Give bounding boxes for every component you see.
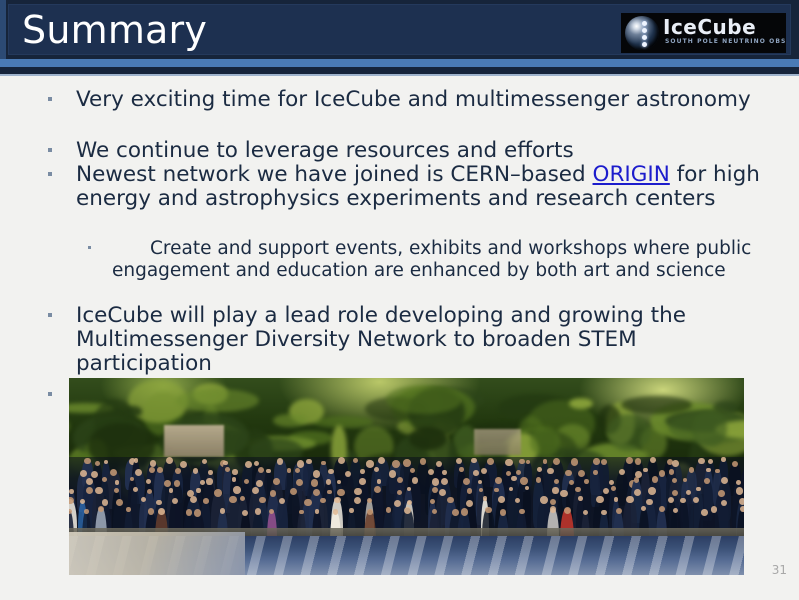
header-rule-dark bbox=[0, 67, 799, 74]
icecube-orb-icon bbox=[625, 16, 659, 50]
photo-person-head bbox=[157, 467, 163, 473]
photo-person-head bbox=[736, 480, 741, 485]
photo-person-head bbox=[156, 500, 162, 506]
icecube-logo: IceCube SOUTH POLE NEUTRINO OBSERVATORY bbox=[621, 13, 786, 53]
photo-building-secondary bbox=[474, 429, 521, 455]
photo-person-head bbox=[672, 490, 678, 496]
photo-person-head bbox=[552, 487, 558, 493]
photo-person-head bbox=[693, 497, 699, 503]
photo-person-head bbox=[279, 498, 285, 504]
photo-person-head bbox=[296, 479, 303, 486]
photo-person-head bbox=[252, 487, 259, 494]
photo-person-head bbox=[740, 506, 744, 512]
photo-person-head bbox=[232, 477, 236, 481]
logo-wordmark: IceCube bbox=[663, 16, 756, 38]
photo-person-head bbox=[410, 468, 415, 473]
photo-person-head bbox=[516, 470, 521, 475]
photo-person-head bbox=[520, 477, 527, 484]
slide-header: Summary IceCube SOUTH POLE NEUTRINO OBSE… bbox=[0, 0, 799, 59]
photo-person-head bbox=[245, 461, 252, 468]
photo-person-head bbox=[186, 509, 192, 515]
photo-person-head bbox=[560, 490, 567, 497]
photo-person-head bbox=[313, 470, 321, 478]
photo-person-head bbox=[208, 470, 213, 475]
photo-person-head bbox=[626, 496, 634, 504]
photo-person-head bbox=[259, 497, 265, 503]
photo-person-head bbox=[367, 509, 373, 515]
photo-person-head bbox=[616, 508, 622, 514]
photo-person-head bbox=[739, 498, 744, 505]
photo-person-head bbox=[360, 469, 365, 474]
photo-person-head bbox=[240, 496, 245, 501]
photo-person-head bbox=[174, 480, 181, 487]
sub-bullet-marker bbox=[88, 246, 91, 249]
photo-foliage-blob bbox=[69, 417, 70, 435]
bullet-item: We continue to leverage resources and ef… bbox=[0, 139, 799, 163]
photo-person-head bbox=[394, 500, 401, 507]
photo-foliage-blob bbox=[692, 410, 727, 447]
photo-person-head bbox=[172, 498, 178, 504]
photo-building bbox=[164, 425, 225, 457]
photo-person-head bbox=[565, 470, 572, 477]
photo-person-head bbox=[571, 458, 579, 466]
photo-person-head bbox=[603, 488, 610, 495]
photo-person-head bbox=[442, 470, 447, 475]
photo-person-head bbox=[721, 500, 727, 506]
photo-person-head bbox=[202, 459, 207, 464]
photo-person-head bbox=[196, 488, 200, 492]
photo-person-head bbox=[397, 477, 403, 483]
photo-person-head bbox=[650, 457, 656, 463]
photo-person-head bbox=[584, 479, 589, 484]
photo-foliage-blob bbox=[621, 396, 692, 415]
photo-person-head bbox=[193, 468, 199, 474]
photo-person-head bbox=[359, 478, 365, 484]
photo-person-head bbox=[149, 467, 155, 473]
photo-foliage-blob bbox=[569, 398, 593, 409]
photo-person-head bbox=[115, 480, 119, 484]
header-rule-hairline bbox=[0, 74, 799, 76]
photo-person-head bbox=[564, 507, 571, 514]
photo-person-head bbox=[95, 487, 102, 494]
bullet-item: Newest network we have joined is CERN–ba… bbox=[0, 163, 799, 211]
photo-foliage-blob bbox=[386, 385, 462, 414]
photo-person-head bbox=[583, 510, 588, 515]
photo-person-head bbox=[334, 497, 340, 503]
photo-person-head bbox=[659, 470, 666, 477]
photo-person-head bbox=[721, 457, 725, 461]
photo-person-head bbox=[141, 497, 146, 502]
photo-person-head bbox=[646, 499, 652, 505]
photo-person-head bbox=[537, 467, 542, 472]
photo-person-head bbox=[403, 459, 410, 466]
photo-person-head bbox=[304, 499, 311, 506]
sub-bullet-item: Create and support events, exhibits and … bbox=[0, 238, 799, 281]
photo-person-head bbox=[441, 478, 448, 485]
photo-person-head bbox=[397, 490, 402, 495]
photo-person-head bbox=[648, 487, 656, 495]
photo-person-head bbox=[596, 496, 604, 504]
photo-person-head bbox=[175, 468, 181, 474]
photo-person-head bbox=[277, 458, 284, 465]
photo-person-head bbox=[266, 469, 270, 473]
photo-person-head bbox=[461, 508, 468, 515]
photo-person-head bbox=[269, 509, 274, 514]
photo-person-head bbox=[479, 488, 483, 492]
photo-person-head bbox=[412, 477, 418, 483]
photo-person-head bbox=[554, 479, 559, 484]
photo-person-head bbox=[135, 469, 142, 476]
photo-person-head bbox=[601, 459, 607, 465]
photo-person-head bbox=[321, 461, 326, 466]
photo-person-head bbox=[736, 487, 743, 494]
photo-person-head bbox=[84, 509, 89, 514]
photo-person-head bbox=[467, 488, 472, 493]
photo-person-head bbox=[386, 507, 392, 513]
photo-person-head bbox=[214, 489, 222, 497]
photo-person-head bbox=[609, 480, 614, 485]
logo-tagline: SOUTH POLE NEUTRINO OBSERVATORY bbox=[665, 38, 786, 46]
photo-person-head bbox=[672, 460, 679, 467]
photo-person-head bbox=[593, 470, 598, 475]
photo-person-head bbox=[506, 471, 511, 476]
bullet-marker bbox=[48, 392, 52, 396]
photo-person-head bbox=[287, 468, 291, 472]
photo-person-head bbox=[270, 490, 276, 496]
photo-person-head bbox=[80, 499, 85, 504]
photo-person-head bbox=[483, 496, 488, 501]
photo-person-head bbox=[377, 479, 381, 483]
photo-person-head bbox=[203, 498, 209, 504]
origin-link[interactable]: ORIGIN bbox=[593, 162, 670, 187]
photo-person-head bbox=[367, 498, 372, 503]
photo-person-head bbox=[349, 508, 353, 512]
photo-person-head bbox=[311, 479, 318, 486]
photo-person-head bbox=[320, 498, 325, 503]
photo-person-head bbox=[233, 486, 241, 494]
photo-person-head bbox=[715, 469, 720, 474]
photo-person-head bbox=[463, 478, 470, 485]
bullet-marker bbox=[48, 148, 52, 152]
photo-person-head bbox=[327, 490, 331, 494]
photo-person-head bbox=[110, 469, 117, 476]
photo-person-head bbox=[683, 478, 687, 482]
photo-person-head bbox=[84, 458, 90, 464]
photo-person-head bbox=[652, 476, 658, 482]
photo-person-head bbox=[150, 460, 156, 466]
photo-person-head bbox=[69, 489, 74, 494]
photo-person-head bbox=[244, 479, 249, 484]
photo-person-head bbox=[225, 467, 230, 472]
photo-person-head bbox=[452, 509, 459, 516]
sub-bullet-text: Create and support events, exhibits and … bbox=[112, 238, 751, 281]
photo-foliage-blob bbox=[530, 426, 560, 456]
photo-person-head bbox=[500, 509, 507, 516]
photo-person-head bbox=[315, 509, 320, 514]
header-rule-light bbox=[0, 59, 799, 67]
photo-person-head bbox=[634, 489, 641, 496]
bullet-text: Very exciting time for IceCube and multi… bbox=[76, 87, 751, 112]
photo-person-head bbox=[392, 460, 400, 468]
bullet-item: IceCube will play a lead role developing… bbox=[0, 304, 799, 376]
photo-person-head bbox=[114, 488, 119, 493]
photo-foliage-blob bbox=[176, 389, 258, 412]
bullet-text: We continue to leverage resources and ef… bbox=[76, 138, 574, 163]
photo-person-head bbox=[104, 460, 108, 464]
photo-person-head bbox=[708, 459, 713, 464]
photo-foliage-blob bbox=[273, 414, 307, 428]
photo-person-head bbox=[495, 477, 502, 484]
photo-person-head bbox=[290, 488, 297, 495]
photo-person-head bbox=[635, 458, 641, 464]
photo-person-head bbox=[95, 461, 100, 466]
photo-person-head bbox=[306, 459, 312, 465]
photo-person-head bbox=[407, 500, 412, 505]
bullet-text: IceCube will play a lead role developing… bbox=[76, 303, 686, 376]
photo-person-head bbox=[487, 458, 494, 465]
photo-person-head bbox=[511, 476, 516, 481]
photo-person-head bbox=[641, 506, 646, 511]
photo-person-head bbox=[614, 497, 618, 501]
photo-person-head bbox=[116, 499, 123, 506]
bullet-marker bbox=[48, 172, 52, 176]
photo-person-head bbox=[366, 460, 373, 467]
photo-person-head bbox=[447, 497, 453, 503]
photo-person-head bbox=[220, 508, 225, 513]
photo-person-head bbox=[223, 461, 227, 465]
page-number: 31 bbox=[772, 563, 787, 577]
photo-person-head bbox=[704, 478, 710, 484]
photo-person-head bbox=[164, 480, 171, 487]
photo-person-head bbox=[718, 490, 725, 497]
photo-person-head bbox=[242, 510, 248, 516]
photo-person-head bbox=[696, 487, 701, 492]
photo-person-head bbox=[80, 470, 87, 477]
photo-person-head bbox=[540, 496, 548, 504]
photo-person-head bbox=[498, 496, 505, 503]
photo-person-head bbox=[659, 506, 665, 512]
photo-person-head bbox=[169, 488, 173, 492]
bullet-text: Newest network we have joined is CERN–ba… bbox=[76, 162, 593, 187]
photo-person-head bbox=[258, 467, 264, 473]
photo-person-head bbox=[299, 510, 303, 514]
photo-person-head bbox=[626, 457, 633, 464]
photo-person-head bbox=[519, 509, 525, 515]
photo-person-head bbox=[256, 480, 263, 487]
photo-person-head bbox=[86, 487, 93, 494]
photo-person-head bbox=[133, 487, 138, 492]
bullet-marker bbox=[48, 97, 52, 101]
page-title: Summary bbox=[22, 8, 207, 52]
photo-person-head bbox=[669, 469, 675, 475]
bullet-marker bbox=[48, 313, 52, 317]
photo-person-head bbox=[601, 510, 606, 515]
photo-person-head bbox=[354, 488, 361, 495]
bullet-item: Very exciting time for IceCube and multi… bbox=[0, 88, 799, 112]
photo-person-head bbox=[701, 509, 708, 516]
photo-person-head bbox=[232, 469, 237, 474]
photo-person-head bbox=[126, 507, 131, 512]
photo-person-head bbox=[459, 467, 464, 472]
photo-person-head bbox=[420, 458, 427, 465]
photo-person-head bbox=[134, 458, 139, 463]
photo-person-head bbox=[505, 459, 513, 467]
photo-person-head bbox=[485, 507, 491, 513]
photo-person-head bbox=[158, 508, 165, 515]
photo-person-head bbox=[575, 487, 580, 492]
collaboration-group-photo bbox=[69, 378, 744, 575]
photo-person-head bbox=[466, 500, 473, 507]
photo-person-head bbox=[519, 459, 524, 464]
photo-person-head bbox=[102, 499, 108, 505]
photo-person-head bbox=[550, 506, 556, 512]
photo-person-head bbox=[698, 458, 704, 464]
photo-person-head bbox=[634, 477, 640, 483]
photo-person-head bbox=[148, 508, 154, 514]
photo-pavement-light bbox=[69, 532, 245, 575]
photo-person-head bbox=[206, 478, 212, 484]
photo-person-head bbox=[439, 489, 446, 496]
